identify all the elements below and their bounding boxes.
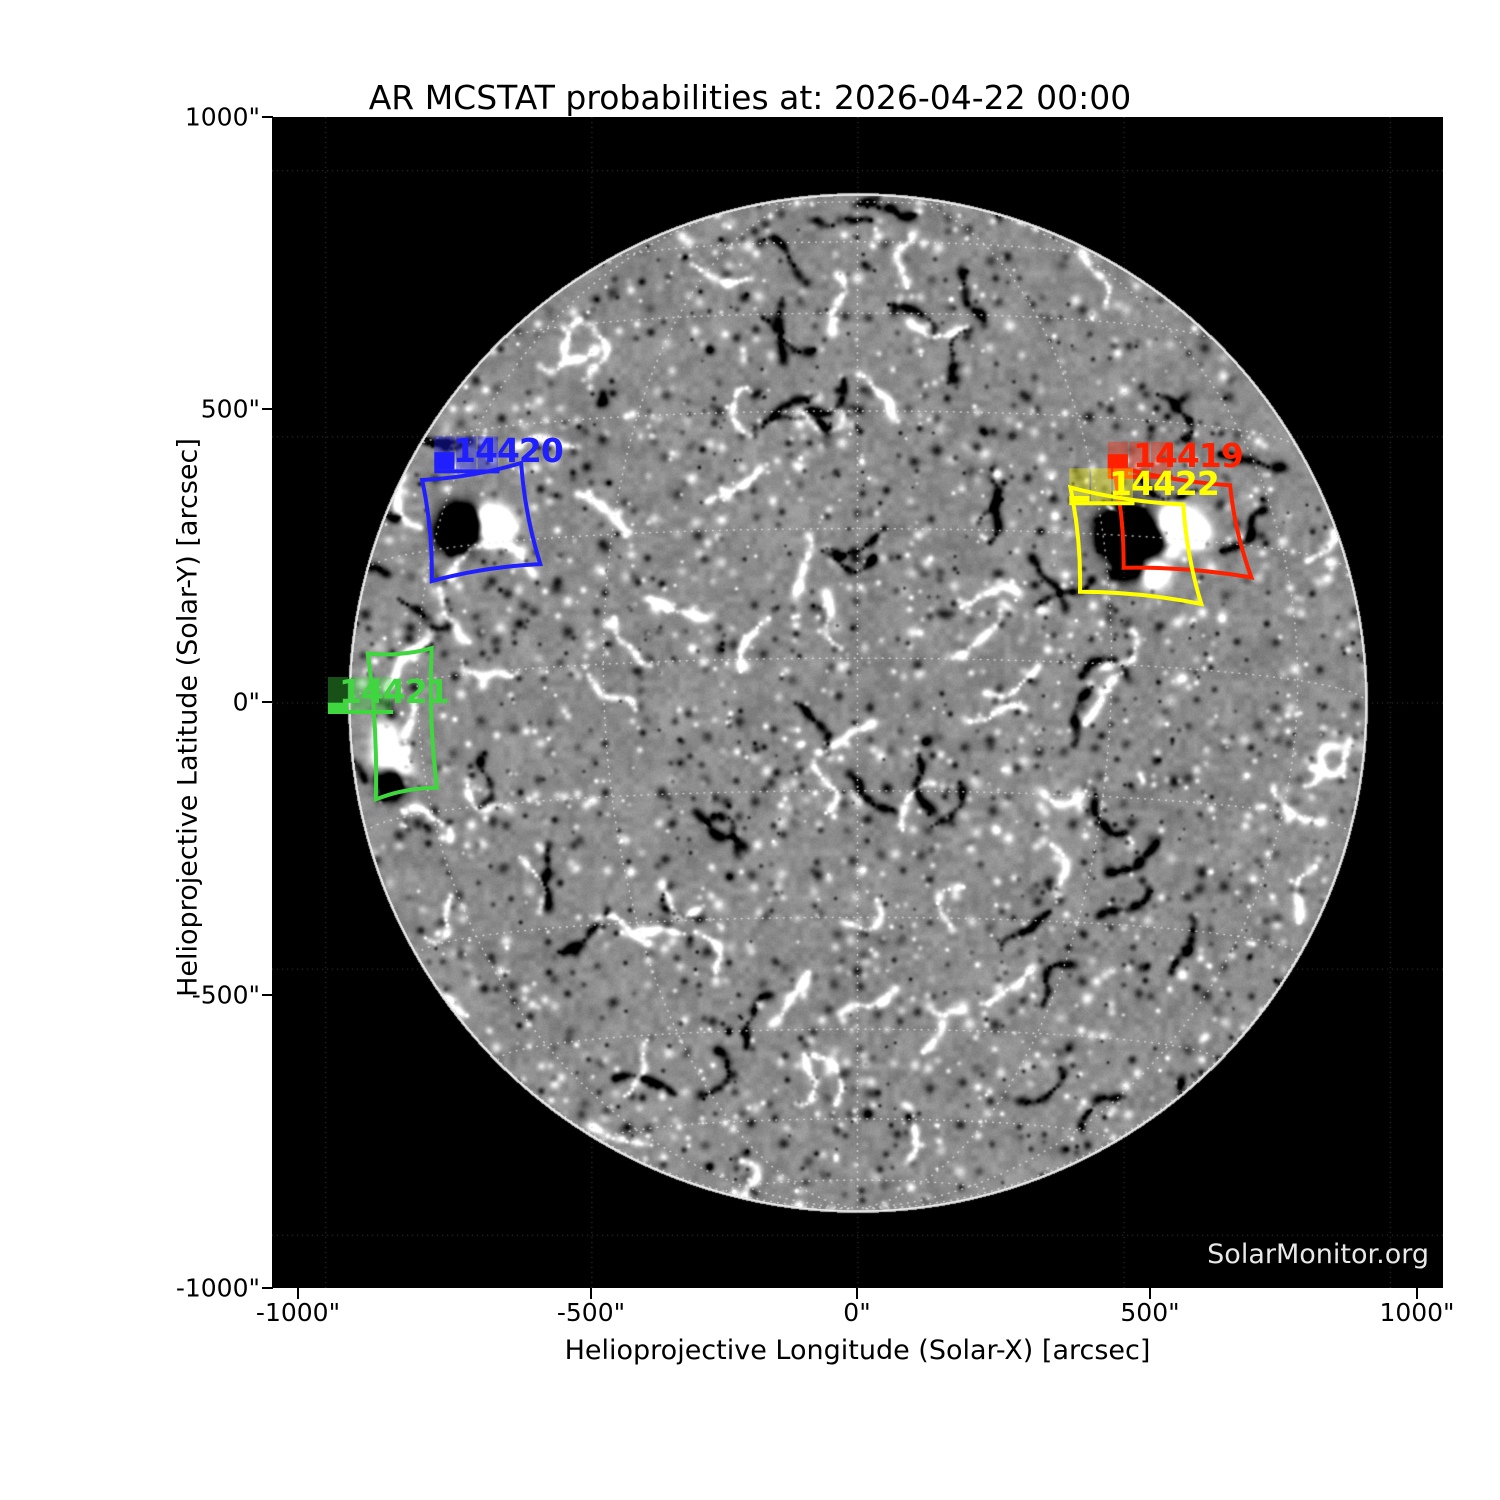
watermark-solarmonitor: SolarMonitor.org bbox=[1207, 1239, 1429, 1270]
ar-noaa-label: 14421 bbox=[339, 672, 449, 711]
xtick-mark-500p bbox=[1149, 1288, 1151, 1299]
xtick-label-0: 0" bbox=[843, 1298, 870, 1327]
xtick-label-1000n: -1000" bbox=[256, 1298, 340, 1327]
ar-bounding-box bbox=[422, 463, 540, 581]
ytick-label-1000p: 1000" bbox=[185, 103, 260, 132]
ar-probability-bar-fill bbox=[434, 452, 454, 469]
y-axis-label: Helioprojective Latitude (Solar-Y) [arcs… bbox=[173, 218, 204, 1218]
x-axis-label: Helioprojective Longitude (Solar-X) [arc… bbox=[272, 1335, 1443, 1366]
ytick-label-1000n: -1000" bbox=[176, 1274, 260, 1303]
ytick-label-500p: 500" bbox=[201, 395, 260, 424]
xtick-mark-0 bbox=[856, 1288, 858, 1299]
xtick-label-500n: -500" bbox=[557, 1298, 625, 1327]
plot-area: SolarMonitor.org 14419144221442014421 bbox=[272, 117, 1443, 1288]
xtick-mark-1000p bbox=[1416, 1288, 1418, 1299]
ar-noaa-label: 14422 bbox=[1109, 464, 1219, 503]
ar-bounding-box bbox=[368, 648, 437, 799]
ytick-label-0: 0" bbox=[233, 688, 260, 717]
solar-magnetogram-figure: AR MCSTAT probabilities at: 2026-04-22 0… bbox=[0, 0, 1500, 1500]
xtick-mark-1000n bbox=[297, 1288, 299, 1299]
ar-probability-bar-fill bbox=[1069, 496, 1089, 501]
xtick-label-500p: 500" bbox=[1120, 1298, 1179, 1327]
xtick-mark-500n bbox=[590, 1288, 592, 1299]
xtick-label-1000p: 1000" bbox=[1379, 1298, 1454, 1327]
ar-noaa-label: 14420 bbox=[453, 431, 563, 470]
